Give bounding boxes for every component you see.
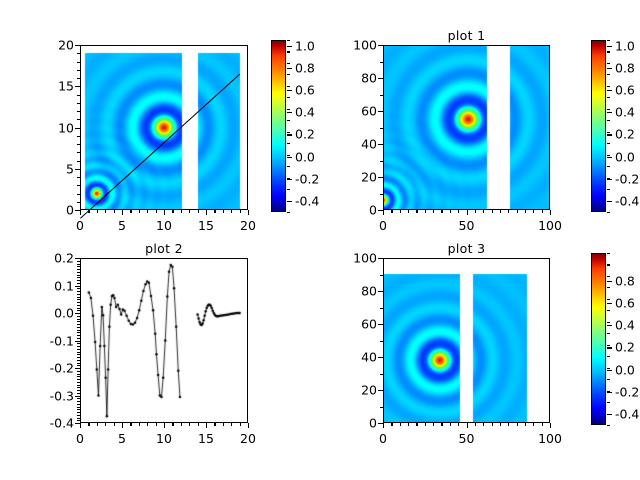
axes-frame [383, 258, 550, 423]
y-minor-tick [380, 275, 383, 276]
x-minor-tick [533, 423, 534, 426]
y-minor-tick [380, 407, 383, 408]
x-minor-tick [425, 423, 426, 426]
panel-bottom-right: plot 30204060801000501000.80.60.40.20.0-… [0, 0, 640, 480]
x-minor-tick [475, 423, 476, 426]
x-minor-tick [550, 423, 551, 426]
y-minor-tick [380, 374, 383, 375]
x-minor-tick [483, 423, 484, 426]
y-minor-tick [380, 291, 383, 292]
y-minor-tick [380, 308, 383, 309]
colorbar-minor-tick [607, 391, 610, 392]
colorbar-tick-label: 0.6 [615, 295, 635, 310]
x-minor-tick [416, 423, 417, 426]
x-minor-tick [542, 423, 543, 426]
y-tick-label: 60 [337, 317, 377, 332]
x-minor-tick [433, 423, 434, 426]
x-minor-tick [525, 423, 526, 426]
x-minor-tick [441, 423, 442, 426]
colorbar-minor-tick [607, 310, 610, 311]
colorbar-minor-tick [607, 253, 610, 254]
colorbar-minor-tick [607, 356, 610, 357]
colorbar-tick-label: 0.8 [615, 273, 635, 288]
y-tick-label: 40 [337, 350, 377, 365]
colorbar-minor-tick [607, 368, 610, 369]
panel-title: plot 3 [383, 241, 550, 256]
colorbar-minor-tick [607, 345, 610, 346]
y-tick-label: 80 [337, 284, 377, 299]
x-minor-tick [383, 423, 384, 426]
colorbar [591, 253, 606, 425]
colorbar-tick-label: 0.4 [615, 318, 635, 333]
x-minor-tick [492, 423, 493, 426]
colorbar-minor-tick [607, 333, 610, 334]
x-minor-tick [391, 423, 392, 426]
colorbar-tick-label: -0.2 [615, 384, 639, 399]
colorbar-minor-tick [607, 322, 610, 323]
colorbar-minor-tick [607, 299, 610, 300]
x-minor-tick [458, 423, 459, 426]
colorbar-minor-tick [607, 414, 610, 415]
y-minor-tick [380, 390, 383, 391]
x-tick-label: 100 [530, 431, 570, 446]
colorbar-tick [607, 347, 612, 348]
x-minor-tick [400, 423, 401, 426]
colorbar-tick [607, 281, 612, 282]
y-tick-label: 0 [337, 416, 377, 431]
y-minor-tick [380, 357, 383, 358]
y-minor-tick [380, 324, 383, 325]
colorbar-minor-tick [607, 379, 610, 380]
x-tick-label: 0 [363, 431, 403, 446]
x-minor-tick [408, 423, 409, 426]
x-minor-tick [450, 423, 451, 426]
colorbar-minor-tick [607, 402, 610, 403]
colorbar-minor-tick [607, 264, 610, 265]
colorbar-tick-label: -0.4 [615, 406, 639, 421]
colorbar-minor-tick [607, 425, 610, 426]
x-minor-tick [500, 423, 501, 426]
y-minor-tick [380, 258, 383, 259]
y-tick-label: 100 [337, 251, 377, 266]
colorbar-minor-tick [607, 276, 610, 277]
colorbar-tick [607, 392, 612, 393]
figure-canvas: 05101520051015201.00.80.60.40.20.0-0.2-0… [0, 0, 640, 480]
colorbar-tick [607, 303, 612, 304]
colorbar-tick-label: 0.2 [615, 340, 635, 355]
x-minor-tick [508, 423, 509, 426]
colorbar-minor-tick [607, 287, 610, 288]
colorbar-tick [607, 370, 612, 371]
x-tick-label: 50 [447, 431, 487, 446]
x-minor-tick [517, 423, 518, 426]
colorbar-tick [607, 325, 612, 326]
x-minor-tick [467, 423, 468, 426]
y-minor-tick [380, 341, 383, 342]
colorbar-tick-label: 0.0 [615, 362, 635, 377]
y-tick-label: 20 [337, 383, 377, 398]
